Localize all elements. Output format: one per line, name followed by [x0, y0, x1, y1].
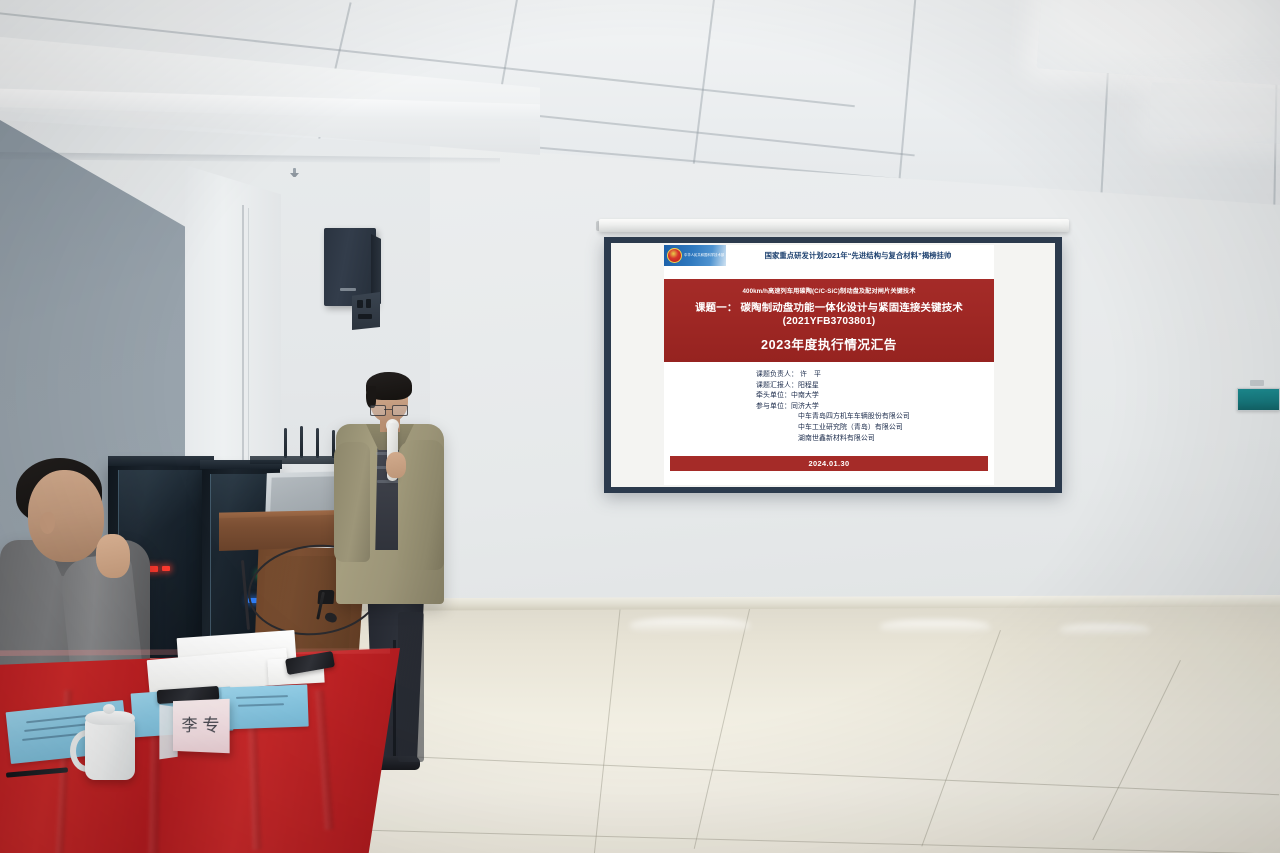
- slide-program-line: 400km/h高速列车用碳陶(C/C-SiC)制动盘及配对闸片关键技术: [670, 286, 988, 295]
- slide-topic-line: 课题一： 碳陶制动盘功能一体化设计与紧固连接关键技术: [670, 299, 988, 314]
- slide-date-bar: 2024.01.30: [670, 456, 988, 471]
- slide-banner-title: 国家重点研发计划2021年“先进结构与复合材料”揭榜挂帅: [726, 251, 994, 261]
- slide-participant-org: 中车青岛四方机车车辆股份有限公司: [664, 412, 994, 423]
- slide-info-row: 参与单位：同济大学: [664, 402, 994, 413]
- presenter-left-arm: [334, 442, 370, 562]
- name-card-char-2: 专: [202, 717, 219, 735]
- national-emblem-icon: [667, 248, 682, 263]
- bracket-slot: [366, 299, 371, 308]
- slide-grant-code: (2021YFB3703801): [670, 316, 988, 327]
- rack-antenna: [284, 428, 287, 458]
- ceiling-light-panel-far: [1149, 82, 1280, 145]
- ceiling-light-panel: [1037, 0, 1280, 86]
- presenter-hand: [386, 452, 406, 478]
- slide-info-block: 课题负责人： 许 平 课题汇报人：阳程星 牵头单位：中南大学 参与单位：同济大学…: [664, 362, 994, 448]
- slide-participant-org: 中车工业研究院（青岛）有限公司: [664, 423, 994, 434]
- blue-booklet-right: [221, 685, 308, 730]
- slide-footer-gap: [664, 473, 994, 485]
- rack-antenna: [316, 428, 319, 458]
- slide-report-title: 2023年度执行情况汇告: [670, 334, 988, 353]
- rack-led-indicator: [162, 566, 170, 571]
- name-card-char-1: 李: [182, 718, 198, 735]
- slide-info-row: 牵头单位：中南大学: [664, 391, 994, 402]
- slide-title-band: 400km/h高速列车用碳陶(C/C-SiC)制动盘及配对闸片关键技术 课题一：…: [664, 279, 994, 362]
- bracket-slot: [358, 314, 372, 319]
- background-person-legs: [398, 612, 424, 762]
- name-card: 李 专: [173, 699, 230, 754]
- emblem-label: 中华人民共和国科学技术部: [684, 253, 724, 257]
- slide-header-gap: [664, 266, 994, 279]
- screen-roller-housing: [599, 219, 1069, 232]
- ministry-emblem-block: 中华人民共和国科学技术部: [664, 245, 726, 266]
- teacup: [85, 718, 135, 780]
- slide-info-row: 课题汇报人：阳程星: [664, 381, 994, 392]
- bracket-slot: [357, 300, 363, 308]
- attendee-hand: [96, 534, 130, 578]
- wall-sign-cap: [1250, 380, 1264, 386]
- slide-header-bar: 中华人民共和国科学技术部 国家重点研发计划2021年“先进结构与复合材料”揭榜挂…: [664, 245, 994, 266]
- teacup-lid-knob: [103, 704, 115, 714]
- conference-room-photo: 中华人民共和国科学技术部 国家重点研发计划2021年“先进结构与复合材料”揭榜挂…: [0, 0, 1280, 853]
- rack-antenna: [300, 426, 303, 458]
- attendee-ear: [40, 512, 55, 534]
- ceiling-sprinkler-icon: [290, 168, 299, 179]
- speaker-logo: [340, 288, 356, 291]
- rack-top-left: [108, 456, 214, 466]
- presentation-slide: 中华人民共和国科学技术部 国家重点研发计划2021年“先进结构与复合材料”揭榜挂…: [664, 245, 994, 485]
- attendee-head: [28, 470, 104, 562]
- speaker-mount-bracket: [352, 292, 380, 330]
- slide-participant-org: 湖南世鑫新材料有限公司: [664, 434, 994, 445]
- wall-sign-plate: [1237, 388, 1280, 411]
- slide-info-row: 课题负责人： 许 平: [664, 370, 994, 381]
- presenter-glasses-icon: [370, 405, 406, 414]
